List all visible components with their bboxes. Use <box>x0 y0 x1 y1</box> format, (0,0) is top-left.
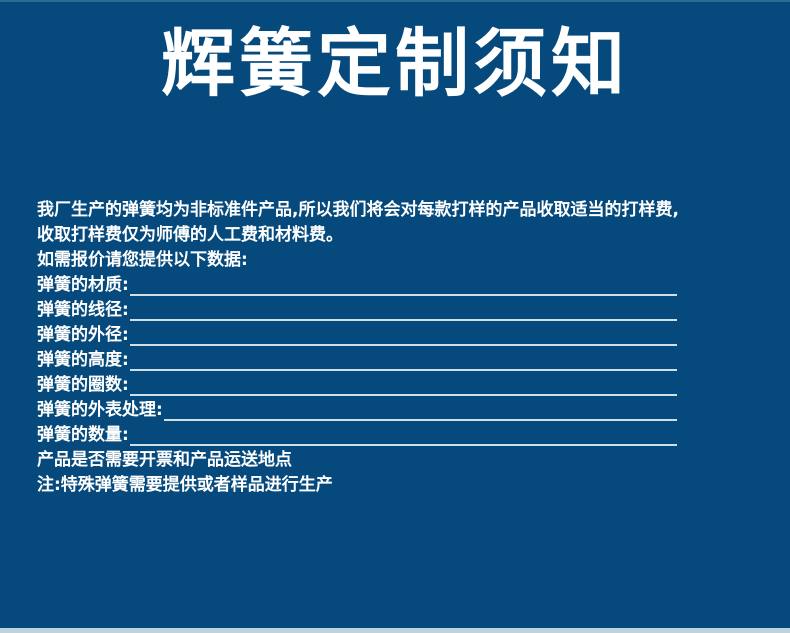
field-label-coils: 弹簧的圈数: <box>37 373 130 398</box>
field-row-surface-treatment: 弹簧的外表处理: <box>37 398 757 423</box>
field-row-material: 弹簧的材质: <box>37 273 757 298</box>
field-label-material: 弹簧的材质: <box>37 273 130 298</box>
intro-paragraph: 我厂生产的弹簧均为非标准件产品,所以我们将会对每款打样的产品收取适当的打样费, … <box>37 198 759 248</box>
invoice-shipping-note: 产品是否需要开票和产品运送地点 <box>37 448 757 473</box>
field-label-quantity: 弹簧的数量: <box>37 423 130 448</box>
field-label-wire-diameter: 弹簧的线径: <box>37 298 130 323</box>
field-input-material[interactable] <box>130 279 677 298</box>
field-label-outer-diameter: 弹簧的外径: <box>37 323 130 348</box>
special-spring-note: 注:特殊弹簧需要提供或者样品进行生产 <box>37 473 757 498</box>
field-input-height[interactable] <box>130 354 677 373</box>
request-lead-text: 如需报价请您提供以下数据: <box>37 248 757 273</box>
intro-line-1: 我厂生产的弹簧均为非标准件产品,所以我们将会对每款打样的产品收取适当的打样费, <box>37 198 759 223</box>
field-row-height: 弹簧的高度: <box>37 348 757 373</box>
bottom-edge-strip <box>0 628 790 633</box>
field-input-quantity[interactable] <box>130 429 677 448</box>
field-input-surface-treatment[interactable] <box>164 404 677 423</box>
top-edge-divider <box>0 0 790 2</box>
field-input-wire-diameter[interactable] <box>130 304 677 323</box>
notice-page: 辉簧定制须知 我厂生产的弹簧均为非标准件产品,所以我们将会对每款打样的产品收取适… <box>0 0 790 633</box>
field-row-coils: 弹簧的圈数: <box>37 373 757 398</box>
field-label-surface-treatment: 弹簧的外表处理: <box>37 398 164 423</box>
field-row-quantity: 弹簧的数量: <box>37 423 757 448</box>
field-input-coils[interactable] <box>130 379 677 398</box>
field-row-wire-diameter: 弹簧的线径: <box>37 298 757 323</box>
field-row-outer-diameter: 弹簧的外径: <box>37 323 757 348</box>
notice-body: 我厂生产的弹簧均为非标准件产品,所以我们将会对每款打样的产品收取适当的打样费, … <box>37 198 757 498</box>
intro-line-2: 收取打样费仅为师傅的人工费和材料费。 <box>37 223 759 248</box>
field-label-height: 弹簧的高度: <box>37 348 130 373</box>
field-input-outer-diameter[interactable] <box>130 329 677 348</box>
page-title: 辉簧定制须知 <box>0 18 790 110</box>
